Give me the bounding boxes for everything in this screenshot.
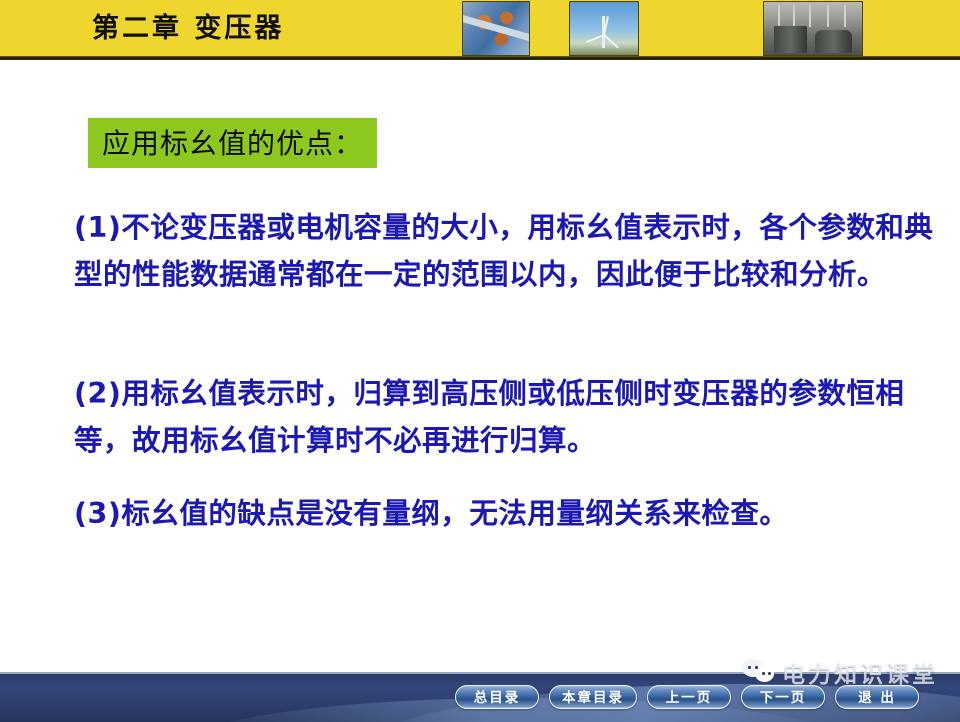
- substation-photo: [763, 1, 863, 56]
- chapter-contents-button[interactable]: 本章目录: [549, 685, 637, 709]
- advantage-paragraph-3: (3)标幺值的缺点是没有量纲，无法用量纲关系来检查。: [74, 490, 954, 537]
- substation-post: [793, 5, 795, 27]
- section-title: 应用标幺值的优点：: [88, 118, 377, 168]
- main-contents-button[interactable]: 总目录: [455, 685, 539, 709]
- navigation-buttons: 总目录 本章目录 上一页 下一页 退 出: [455, 685, 919, 709]
- transformer-tank: [774, 26, 807, 53]
- substation-post: [809, 5, 811, 27]
- substation-photo-image: [764, 2, 862, 55]
- slide-content: 应用标幺值的优点： (1)不论变压器或电机容量的大小，用标幺值表示时，各个参数和…: [0, 60, 960, 672]
- machine-photo-image: [463, 2, 529, 55]
- previous-page-button[interactable]: 上一页: [647, 685, 731, 709]
- substation-post: [827, 5, 829, 27]
- wind-turbine-photo-image: [570, 2, 638, 55]
- advantage-paragraph-1: (1)不论变压器或电机容量的大小，用标幺值表示时，各个参数和典型的性能数据通常都…: [74, 204, 954, 298]
- exit-button[interactable]: 退 出: [835, 685, 919, 709]
- chapter-title: 第二章 变压器: [92, 8, 422, 50]
- substation-post: [844, 5, 846, 27]
- next-page-button[interactable]: 下一页: [741, 685, 825, 709]
- advantage-paragraph-2: (2)用标幺值表示时，归算到高压侧或低压侧时变压器的参数恒相等，故用标幺值计算时…: [74, 370, 954, 464]
- transformer-tank: [815, 30, 852, 53]
- substation-post: [778, 5, 780, 27]
- machine-photo: [462, 1, 530, 56]
- slide-header-banner: 第二章 变压器: [0, 0, 960, 57]
- machine-shaft: [462, 15, 530, 44]
- turbine-blade: [603, 35, 618, 49]
- wind-turbine-photo: [569, 1, 639, 56]
